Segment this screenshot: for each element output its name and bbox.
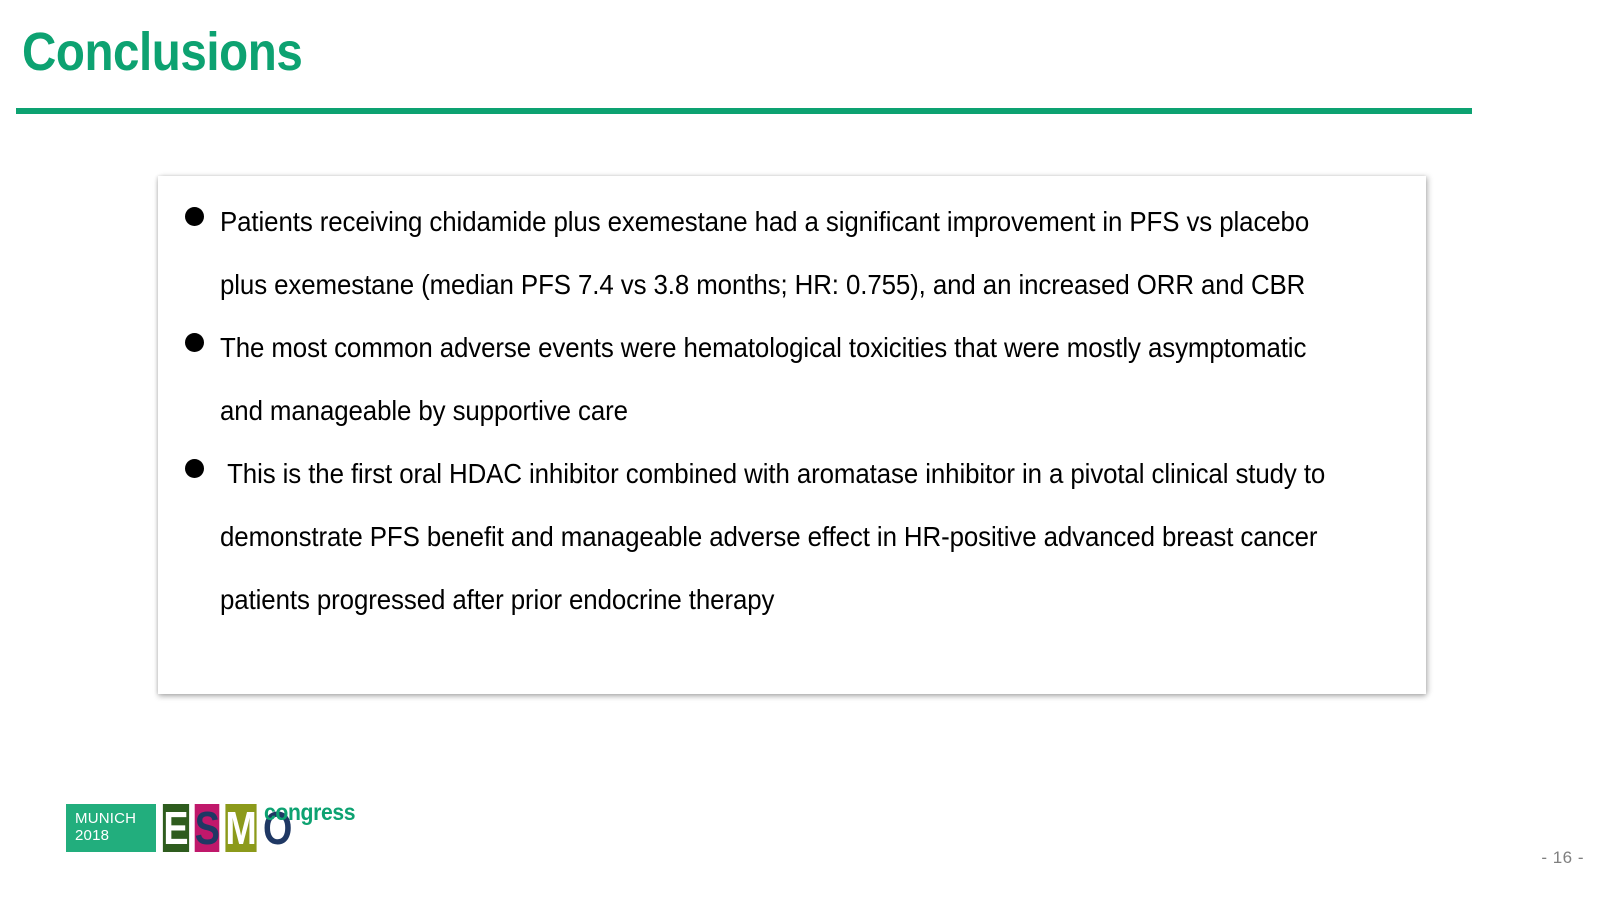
list-item-text: The most common adverse events were hema… bbox=[220, 316, 1344, 442]
esmo-wordmark: E S M O congress bbox=[160, 804, 294, 852]
munich-2018-badge: MUNICH 2018 bbox=[66, 804, 156, 852]
esmo-letter-s: S bbox=[195, 804, 220, 852]
slide-canvas: Conclusions Patients receiving chidamide… bbox=[0, 0, 1600, 900]
filled-circle-icon bbox=[185, 459, 204, 478]
list-item: This is the first oral HDAC inhibitor co… bbox=[176, 442, 1416, 631]
bullet-marker bbox=[176, 442, 220, 478]
munich-year-label: 2018 bbox=[75, 827, 156, 844]
list-item-text: Patients receiving chidamide plus exemes… bbox=[220, 190, 1344, 316]
bullet-marker bbox=[176, 190, 220, 226]
list-item: Patients receiving chidamide plus exemes… bbox=[176, 190, 1416, 316]
bullet-list: Patients receiving chidamide plus exemes… bbox=[176, 190, 1416, 631]
filled-circle-icon bbox=[185, 333, 204, 352]
congress-word-label: congress bbox=[264, 799, 355, 826]
filled-circle-icon bbox=[185, 207, 204, 226]
list-item-text: This is the first oral HDAC inhibitor co… bbox=[220, 442, 1344, 631]
esmo-letter-m: M bbox=[225, 804, 256, 852]
page-title: Conclusions bbox=[22, 24, 302, 81]
conclusions-content-card: Patients receiving chidamide plus exemes… bbox=[158, 176, 1426, 694]
title-divider-rule bbox=[16, 108, 1472, 114]
page-number: - 16 - bbox=[1541, 848, 1584, 868]
list-item: The most common adverse events were hema… bbox=[176, 316, 1416, 442]
munich-city-label: MUNICH bbox=[75, 810, 156, 827]
esmo-letter-e: E bbox=[163, 804, 189, 852]
esmo-congress-logo: MUNICH 2018 E S M O congress bbox=[66, 796, 294, 852]
bullet-marker bbox=[176, 316, 220, 352]
